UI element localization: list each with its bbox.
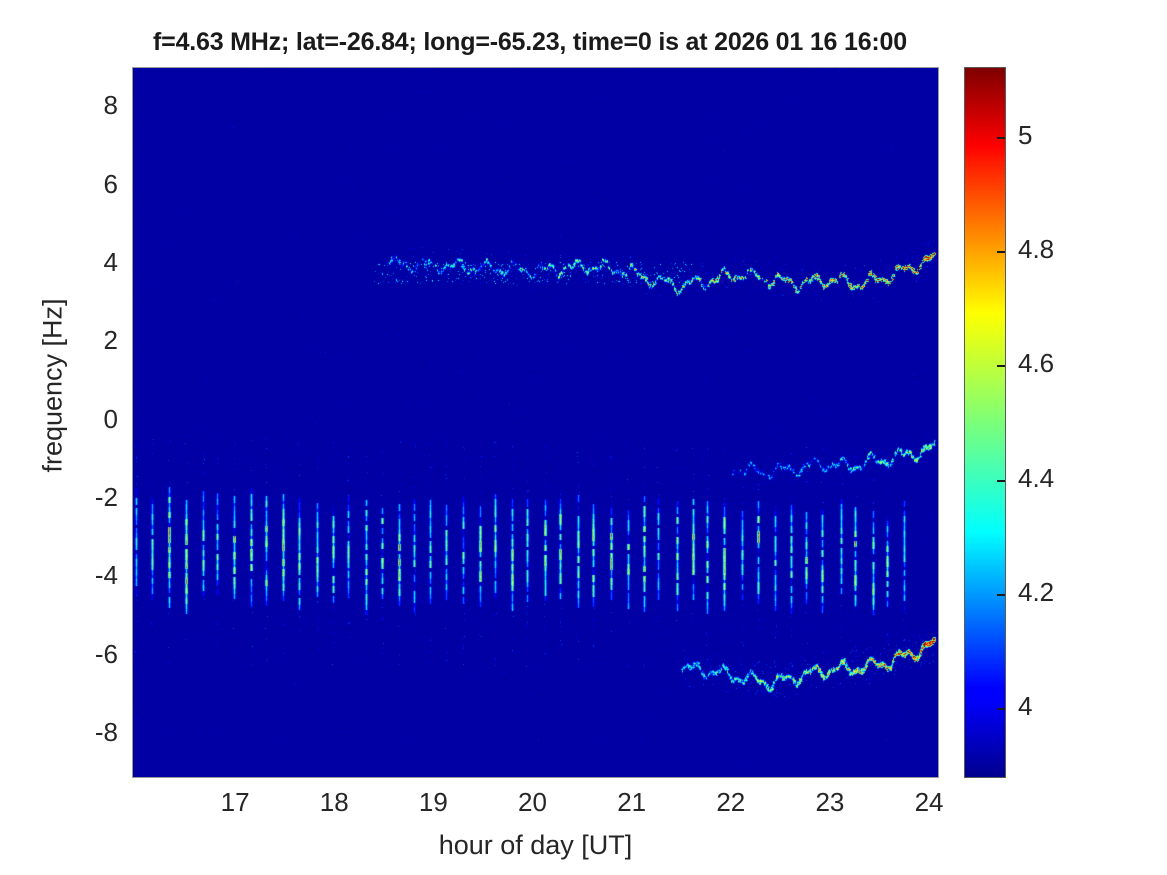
x-tick-label: 17 — [195, 787, 275, 818]
y-tick-label: -8 — [8, 717, 118, 748]
colorbar-tick-label: 4.8 — [1018, 234, 1108, 265]
x-tick-label: 22 — [691, 787, 771, 818]
colorbar-canvas — [965, 68, 1005, 777]
colorbar-tick-mark — [997, 137, 1005, 139]
x-axis-label: hour of day [UT] — [133, 830, 938, 861]
colorbar — [965, 68, 1005, 777]
colorbar-tick-mark — [997, 251, 1005, 253]
spectrogram-plot-area — [133, 68, 938, 777]
y-tick-label: -4 — [8, 560, 118, 591]
y-tick-label: 8 — [8, 90, 118, 121]
x-tick-label: 23 — [790, 787, 870, 818]
colorbar-tick-mark — [997, 480, 1005, 482]
y-tick-label: 4 — [8, 247, 118, 278]
colorbar-tick-label: 4 — [1018, 691, 1108, 722]
figure-root: f=4.63 MHz; lat=-26.84; long=-65.23, tim… — [0, 0, 1167, 875]
spectrogram-canvas — [133, 68, 938, 777]
x-tick-label: 19 — [393, 787, 473, 818]
y-tick-label: -2 — [8, 482, 118, 513]
x-tick-label: 24 — [889, 787, 969, 818]
y-tick-label: 0 — [8, 404, 118, 435]
y-tick-label: 6 — [8, 169, 118, 200]
y-tick-label: 2 — [8, 325, 118, 356]
y-tick-label: -6 — [8, 639, 118, 670]
colorbar-tick-label: 4.6 — [1018, 348, 1108, 379]
figure-title: f=4.63 MHz; lat=-26.84; long=-65.23, tim… — [0, 28, 1060, 57]
colorbar-tick-mark — [997, 594, 1005, 596]
x-tick-label: 18 — [294, 787, 374, 818]
colorbar-tick-label: 4.4 — [1018, 463, 1108, 494]
x-tick-label: 21 — [592, 787, 672, 818]
colorbar-tick-label: 5 — [1018, 120, 1108, 151]
x-tick-label: 20 — [493, 787, 573, 818]
colorbar-tick-label: 4.2 — [1018, 577, 1108, 608]
colorbar-tick-mark — [997, 365, 1005, 367]
colorbar-tick-mark — [997, 708, 1005, 710]
